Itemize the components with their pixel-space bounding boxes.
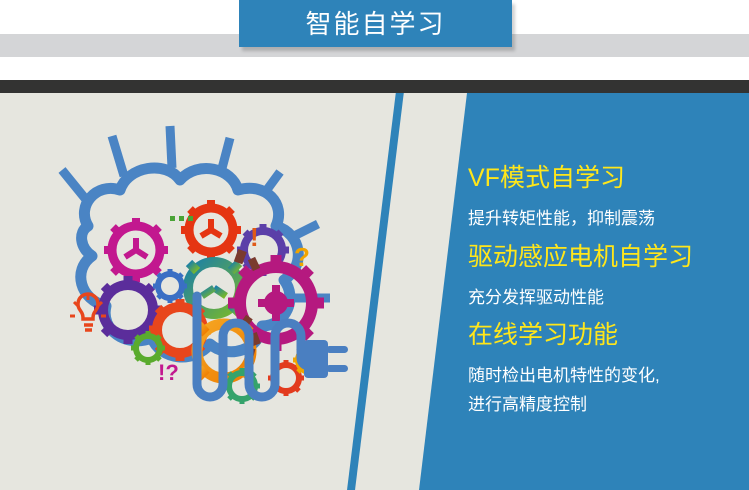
page-title: 智能自学习 — [305, 11, 445, 37]
feature-heading-3: 在线学习功能 — [468, 322, 743, 348]
feature-heading-1: VF模式自学习 — [468, 165, 743, 191]
content-panel: ! ? !? VF模式自学习 提升转矩性能，抑制震荡 驱动感应电机自学习 充分发 — [0, 93, 749, 490]
feature-desc-3-line-2: 进行高精度控制 — [468, 394, 743, 415]
feature-text-column: VF模式自学习 提升转矩性能，抑制震荡 驱动感应电机自学习 充分发挥驱动性能 在… — [468, 165, 743, 415]
exclamation-mark: ! — [250, 222, 259, 252]
power-plug-cable-icon — [170, 288, 360, 428]
feature-desc-2-line-1: 充分发挥驱动性能 — [468, 287, 743, 308]
product-feature-banner: 智能自学习 — [0, 0, 749, 490]
feature-heading-2: 驱动感应电机自学习 — [468, 244, 743, 270]
question-mark: ? — [294, 242, 310, 272]
feature-desc-1-line-1: 提升转矩性能，抑制震荡 — [468, 208, 743, 229]
feature-desc-3-line-1: 随时检出电机特性的变化, — [468, 365, 743, 386]
header-dark-divider — [0, 80, 749, 93]
dots-decoration — [170, 216, 193, 221]
page-title-tab: 智能自学习 — [239, 0, 512, 47]
